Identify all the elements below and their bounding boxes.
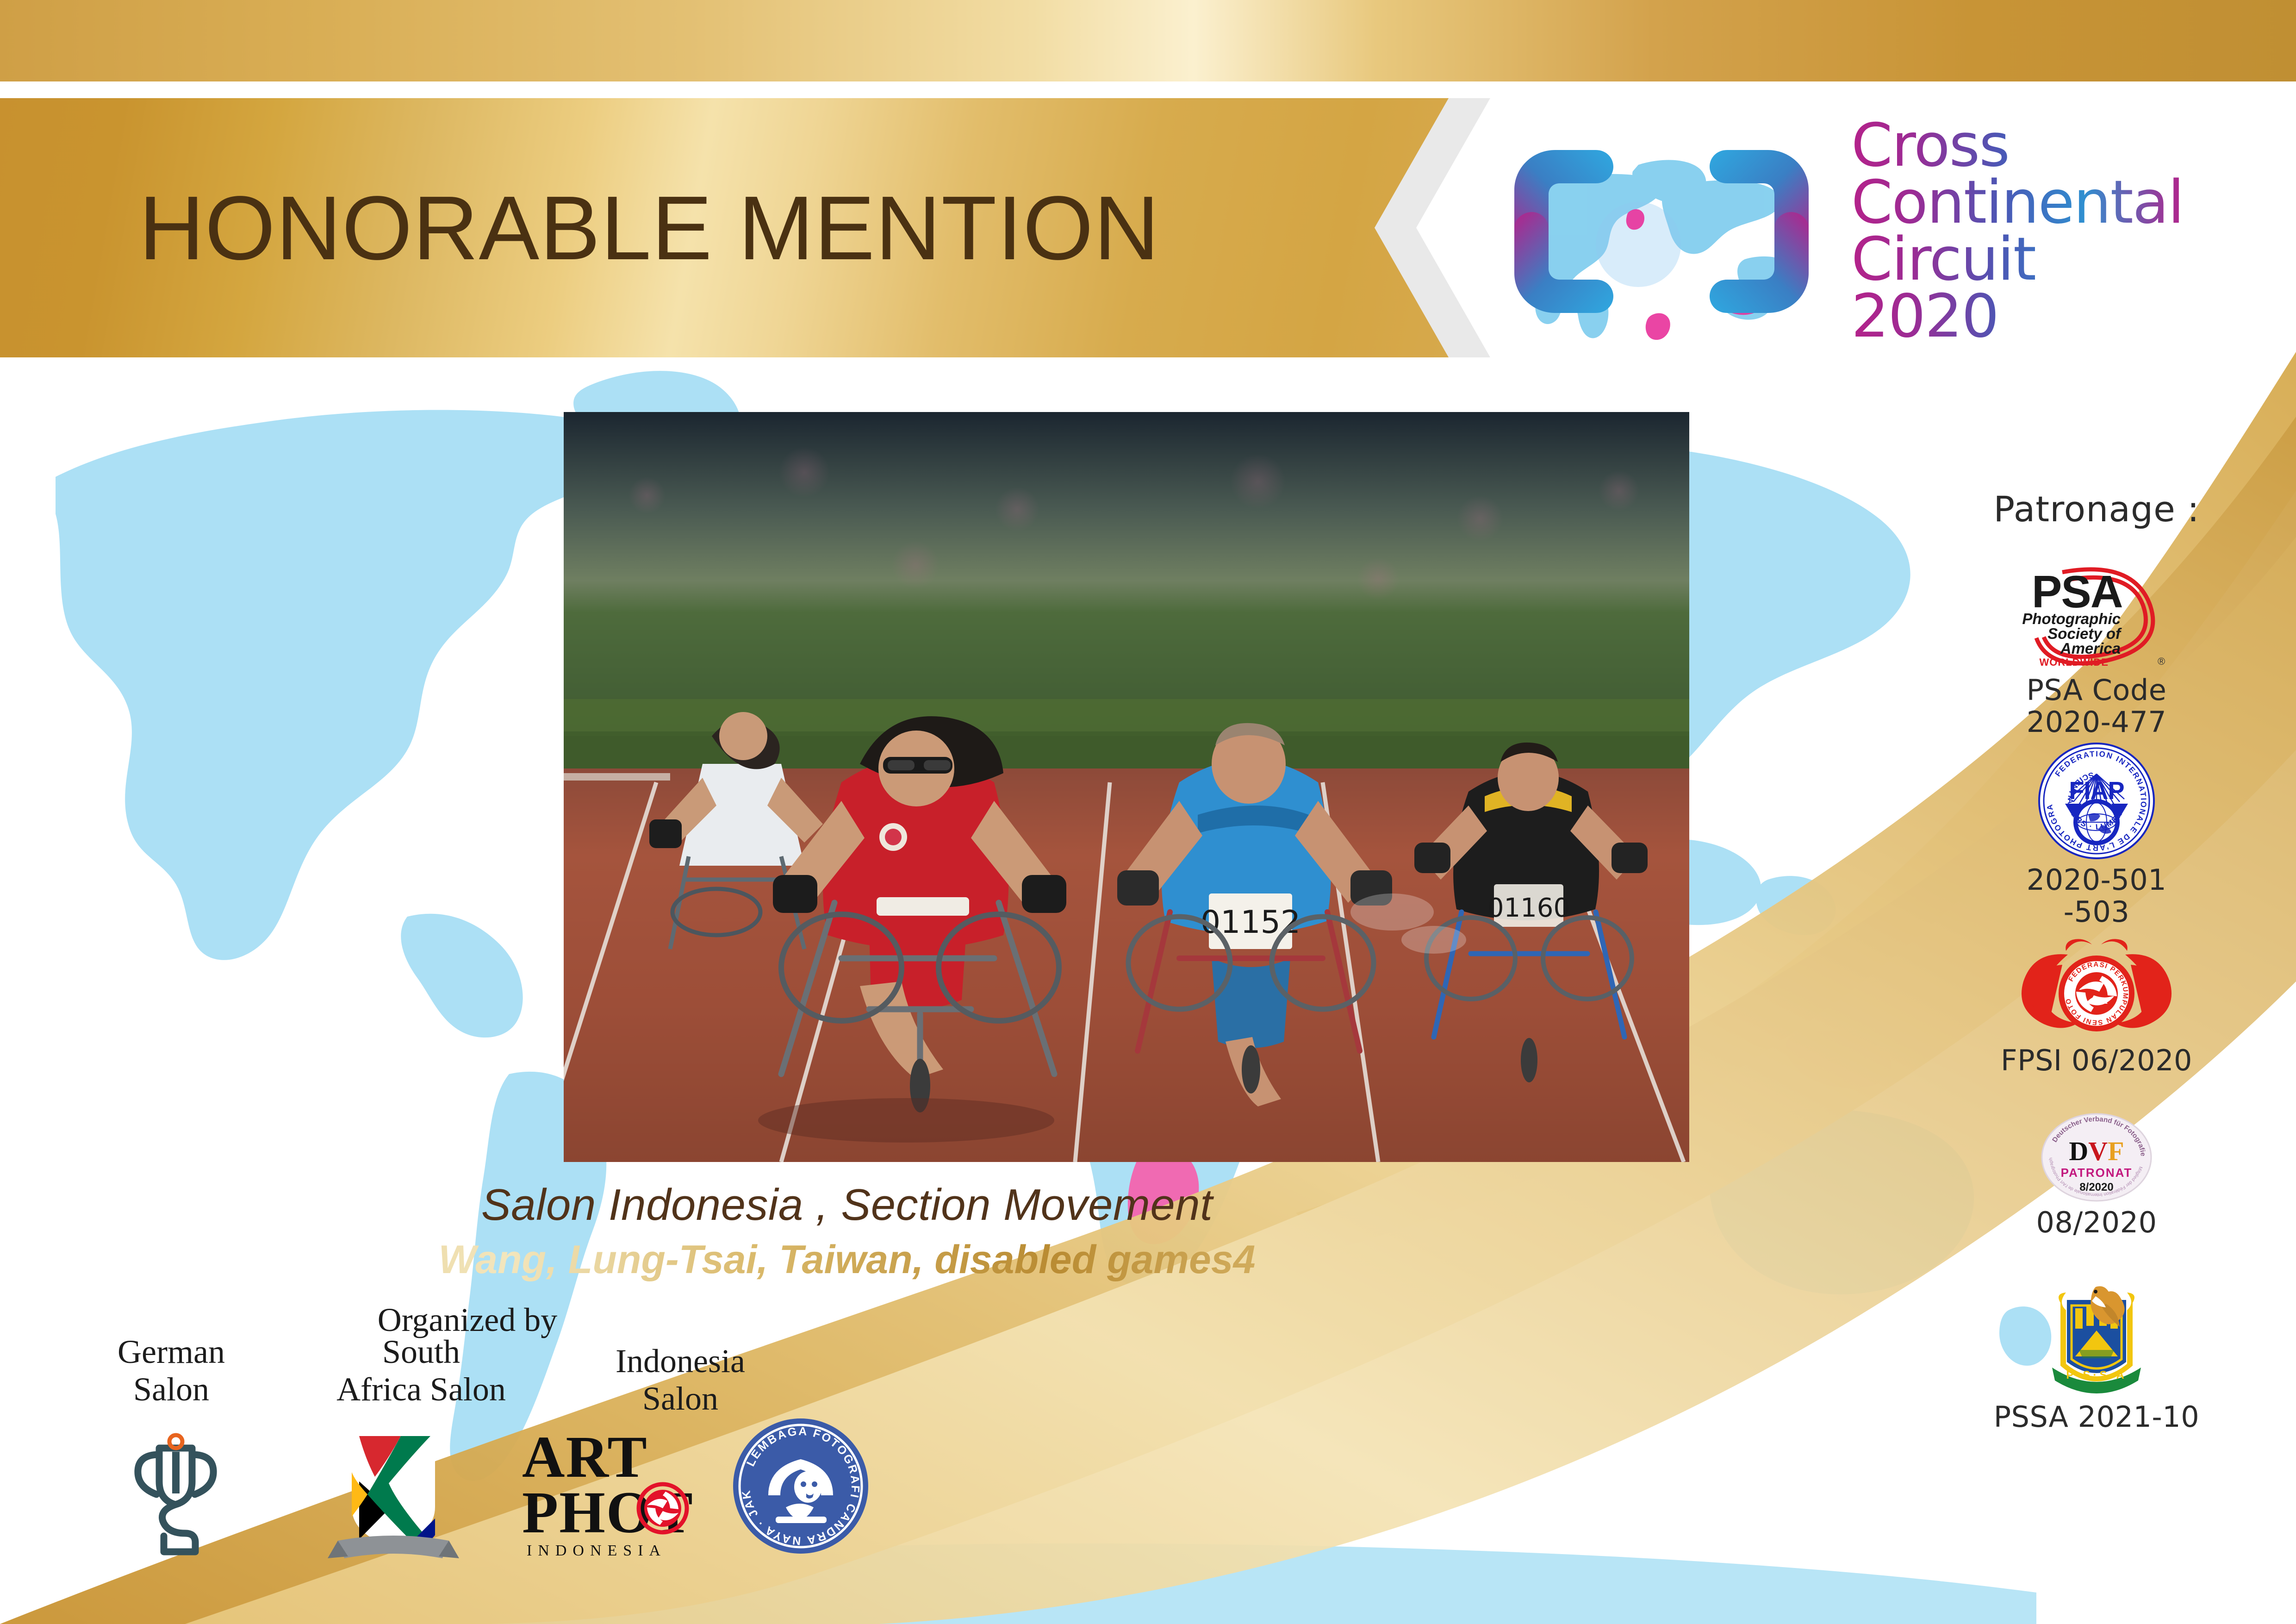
svg-text:America: America <box>2060 640 2121 657</box>
brand-line-2: Continental <box>1851 175 2184 231</box>
organizer-label-german: German Salon <box>74 1333 268 1408</box>
organizer-name-indonesia: Indonesia Salon <box>569 1343 791 1417</box>
logo-wordmark: Cross Continental Circuit 2020 <box>1851 118 2184 345</box>
svg-text:01160: 01160 <box>1487 893 1570 923</box>
patronage-item-fpsi: FEDERASI PERKUMPULAN SENI FOTO · INDONES… <box>1935 931 2259 1076</box>
dvf-logo: Deutscher Verband für Fotografie e.V. Mi… <box>1935 1111 2259 1204</box>
award-banner: HONORABLE MENTION <box>0 98 1509 357</box>
fpsi-logo: FEDERASI PERKUMPULAN SENI FOTO · INDONES… <box>1935 931 2259 1042</box>
brand-line-4: 2020 <box>1851 288 2184 345</box>
salon-section-caption: Salon Indonesia , Section Movement <box>0 1180 1694 1230</box>
organizer-label-indonesia: Indonesia Salon <box>569 1343 791 1417</box>
author-title-caption: Wang, Lung-Tsai, Taiwan, disabled games4 <box>0 1237 1694 1283</box>
svg-text:®: ® <box>2158 656 2165 667</box>
svg-text:8/2020: 8/2020 <box>2079 1181 2113 1193</box>
psa-wordmark: PSA <box>2032 566 2122 617</box>
logo-bracket-world-mark <box>1486 120 1837 343</box>
cross-continental-circuit-logo: Cross Continental Circuit 2020 <box>1486 111 2263 352</box>
psa-code-label: PSA Code 2020-477 <box>1935 674 2259 738</box>
patronage-item-pssa: P·S·S·A PSSA 2021-10 <box>1935 1282 2259 1433</box>
patronage-item-fiap: FEDERATION INTERNATIONALE DE L'ART PHOTO… <box>1935 741 2259 928</box>
brand-line-1: Cross <box>1851 118 2184 175</box>
art-photo-indonesia-logo: ART PHOT INDONESIA <box>518 1426 703 1560</box>
patronage-item-psa: PSA Photographic Society of America WORL… <box>1935 556 2259 738</box>
german-salon-logo <box>126 1430 225 1562</box>
awarded-photograph: 01152 <box>564 412 1689 1162</box>
top-gold-strip <box>0 0 2296 81</box>
fiap-logo: FEDERATION INTERNATIONALE DE L'ART PHOTO… <box>1935 741 2259 861</box>
south-africa-salon-logo <box>319 1426 467 1565</box>
patronage-item-dvf: Deutscher Verband für Fotografie e.V. Mi… <box>1935 1111 2259 1238</box>
lembaga-fotografi-candra-naya-logo: LEMBAGA FOTOGRAFI CANDRA NAYA · JAKARTA … <box>731 1417 870 1555</box>
patronage-heading: Patronage : <box>1935 488 2259 530</box>
fiap-code-label: 2020-501 -503 <box>1935 864 2259 928</box>
pssa-logo: P·S·S·A <box>1935 1282 2259 1398</box>
brand-line-3: Circuit <box>1851 231 2184 288</box>
dvf-wordmark: DVF <box>2069 1136 2124 1166</box>
award-title: HONORABLE MENTION <box>139 98 1160 357</box>
fpsi-code-label: FPSI 06/2020 <box>1935 1044 2259 1076</box>
pssa-wordmark: P·S·S·A <box>2066 1369 2127 1381</box>
svg-text:01152: 01152 <box>1201 904 1300 941</box>
psa-logo: PSA Photographic Society of America WORL… <box>1935 556 2259 671</box>
svg-text:WORLDWIDE: WORLDWIDE <box>2039 656 2109 668</box>
award-certificate: HONORABLE MENTION <box>0 0 2296 1624</box>
pssa-code-label: PSSA 2021-10 <box>1935 1401 2259 1433</box>
dvf-code-label: 08/2020 <box>1935 1206 2259 1238</box>
art-photo-line3: INDONESIA <box>527 1542 666 1559</box>
organizer-label-south-africa: South Africa Salon <box>296 1333 546 1408</box>
organizer-name-german: German Salon <box>74 1333 268 1408</box>
svg-text:PATRONAT: PATRONAT <box>2061 1166 2133 1180</box>
organizer-name-south-africa: South Africa Salon <box>296 1333 546 1408</box>
